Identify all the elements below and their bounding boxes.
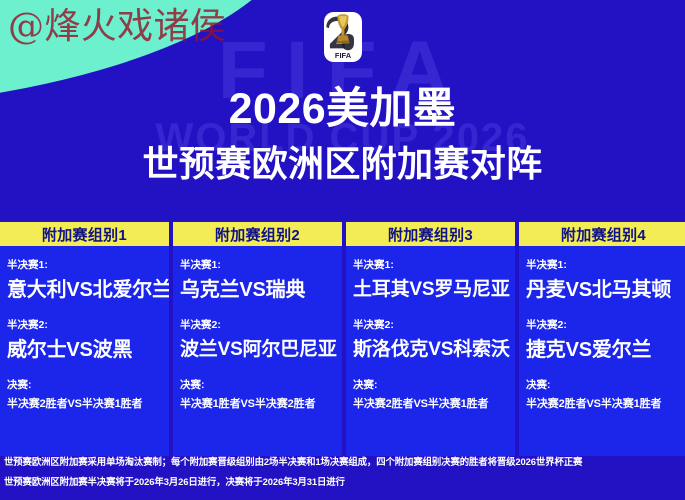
semifinal2-fixture: 斯洛伐克VS科索沃 [353,337,508,363]
group-title: 附加赛组别4 [561,224,646,245]
group-header: 附加赛组别2 [173,222,342,248]
semifinal2-label: 半决赛2: [7,319,162,332]
semifinal2-fixture: 捷克VS爱尔兰 [526,337,681,363]
group-body: 半决赛1: 土耳其VS罗马尼亚 半决赛2: 斯洛伐克VS科索沃 决赛: 半决赛2… [346,248,515,456]
fifa-world-cup-2026-logo-icon: FIFA [321,8,365,70]
group-header: 附加赛组别1 [0,222,169,248]
final-fixture: 半决赛2胜者VS半决赛1胜者 [7,397,162,412]
final-label: 决赛: [353,379,508,392]
page-title-line1: 2026美加墨 [0,84,685,134]
semifinal2-label: 半决赛2: [526,319,681,332]
semifinal1-label: 半决赛1: [7,259,162,272]
poster-canvas: FIFA WORLD CUP 2026 @烽火戏诸侯 FIFA 2 [0,0,685,500]
playoff-group-card: 附加赛组别1 半决赛1: 意大利VS北爱尔兰 半决赛2: 威尔士VS波黑 决赛:… [0,222,169,456]
group-title: 附加赛组别2 [215,224,300,245]
semifinal1-fixture: 乌克兰VS瑞典 [180,277,335,303]
group-title: 附加赛组别3 [388,224,473,245]
semifinal1-fixture: 土耳其VS罗马尼亚 [353,277,508,303]
group-title: 附加赛组别1 [42,224,127,245]
semifinal1-fixture: 丹麦VS北马其顿 [526,277,681,303]
semifinal2-fixture: 威尔士VS波黑 [7,337,162,363]
final-label: 决赛: [180,379,335,392]
semifinal2-label: 半决赛2: [353,319,508,332]
group-header: 附加赛组别4 [519,222,685,248]
semifinal1-fixture: 意大利VS北爱尔兰 [7,277,162,303]
footer-notes: 世预赛欧洲区附加赛采用单场淘汰赛制；每个附加赛晋级组别由2场半决赛和1场决赛组成… [0,446,685,500]
playoff-group-card: 附加赛组别2 半决赛1: 乌克兰VS瑞典 半决赛2: 波兰VS阿尔巴尼亚 决赛:… [173,222,342,456]
final-label: 决赛: [526,379,681,392]
footer-note-format: 世预赛欧洲区附加赛采用单场淘汰赛制；每个附加赛晋级组别由2场半决赛和1场决赛组成… [4,452,681,472]
final-fixture: 半决赛1胜者VS半决赛2胜者 [180,397,335,412]
footer-note-dates: 世预赛欧洲区附加赛半决赛将于2026年3月26日进行，决赛将于2026年3月31… [4,472,681,492]
semifinal1-label: 半决赛1: [180,259,335,272]
semifinal2-label: 半决赛2: [180,319,335,332]
uploader-watermark: @烽火戏诸侯 [8,7,226,47]
group-body: 半决赛1: 丹麦VS北马其顿 半决赛2: 捷克VS爱尔兰 决赛: 半决赛2胜者V… [519,248,685,456]
poster-title-block: 2026美加墨 世预赛欧洲区附加赛对阵 [0,84,685,186]
page-title-line2: 世预赛欧洲区附加赛对阵 [0,142,685,186]
group-body: 半决赛1: 乌克兰VS瑞典 半决赛2: 波兰VS阿尔巴尼亚 决赛: 半决赛1胜者… [173,248,342,456]
final-fixture: 半决赛2胜者VS半决赛1胜者 [526,397,681,412]
semifinal1-label: 半决赛1: [353,259,508,272]
playoff-group-card: 附加赛组别4 半决赛1: 丹麦VS北马其顿 半决赛2: 捷克VS爱尔兰 决赛: … [519,222,685,456]
group-header: 附加赛组别3 [346,222,515,248]
svg-text:FIFA: FIFA [334,51,351,60]
playoff-groups-row: 附加赛组别1 半决赛1: 意大利VS北爱尔兰 半决赛2: 威尔士VS波黑 决赛:… [0,222,685,456]
playoff-group-card: 附加赛组别3 半决赛1: 土耳其VS罗马尼亚 半决赛2: 斯洛伐克VS科索沃 决… [346,222,515,456]
semifinal2-fixture: 波兰VS阿尔巴尼亚 [180,337,335,363]
final-label: 决赛: [7,379,162,392]
final-fixture: 半决赛2胜者VS半决赛1胜者 [353,397,508,412]
semifinal1-label: 半决赛1: [526,259,681,272]
group-body: 半决赛1: 意大利VS北爱尔兰 半决赛2: 威尔士VS波黑 决赛: 半决赛2胜者… [0,248,169,456]
